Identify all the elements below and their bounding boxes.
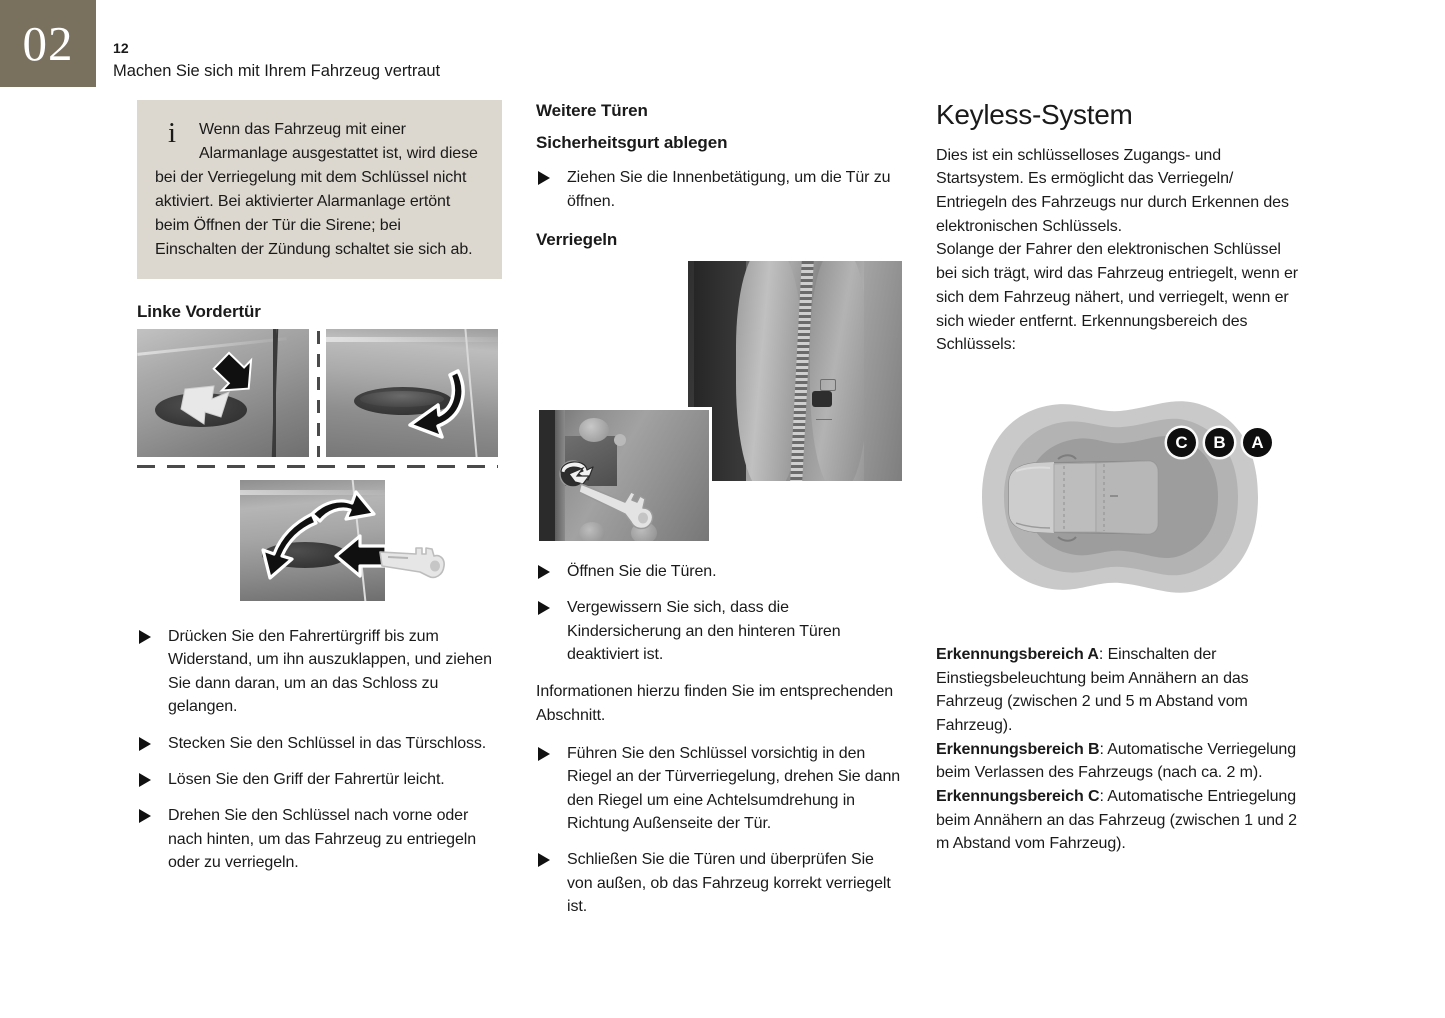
heading-keyless-system: Keyless-System [936,100,1302,131]
page-number: 12 [113,40,440,58]
zone-badge-a: A [1243,428,1272,457]
list-item-text: Führen Sie den Schlüssel vorsichtig in d… [567,745,900,832]
door-jamb-lock-figure [536,261,902,544]
info-note-text: iWenn das Fahrzeug mit einer Alarmanlage… [155,118,480,262]
photo-door-jamb-overview [688,261,902,481]
list-item: Drehen Sie den Schlüssel nach vorne oder… [137,804,502,874]
figure-divider-vertical [317,331,320,457]
middle-column: Weitere Türen Sicherheitsgurt ablegen Zi… [536,100,902,918]
list-item-text: Öffnen Sie die Türen. [567,563,716,580]
list-item-text: Schließen Sie die Türen und überprüfen S… [567,851,891,915]
bullet-triangle-icon [538,601,550,615]
driver-door-handle-figure [137,329,502,609]
photo-door-handle-press [137,329,309,457]
photo-key-in-lock-turn [240,480,445,601]
zone-note-c: Erkennungsbereich C: Automatische Entrie… [936,785,1302,856]
list-item-text: Ziehen Sie die Innenbetätigung, um die T… [567,169,890,209]
bullet-triangle-icon [139,809,151,823]
bullet-triangle-icon [139,737,151,751]
list-item: Drücken Sie den Fahrertürgriff bis zum W… [137,625,502,718]
bullet-triangle-icon [538,171,550,185]
list-item: Schließen Sie die Türen und überprüfen S… [536,848,902,918]
bullet-triangle-icon [139,773,151,787]
bullet-triangle-icon [538,853,550,867]
list-item: Lösen Sie den Griff der Fahrertür leicht… [137,768,502,791]
middle-bullet-list-2: Öffnen Sie die Türen. Vergewissern Sie s… [536,560,902,666]
key-turn-arrows-icon [240,480,445,601]
heading-sicherheitsgurt-ablegen: Sicherheitsgurt ablegen [536,132,902,154]
chapter-tab: 02 [0,0,96,87]
list-item-text: Stecken Sie den Schlüssel in das Türschl… [168,735,486,752]
pull-arrow-icon [326,329,498,457]
press-arrow-icon [137,329,309,457]
list-item-text: Drücken Sie den Fahrertürgriff bis zum W… [168,628,492,715]
middle-bullet-list-1: Ziehen Sie die Innenbetätigung, um die T… [536,166,902,213]
middle-paragraph: Informationen hierzu finden Sie im entsp… [536,680,902,727]
keyless-paragraph-2: Solange der Fahrer den elektronischen Sc… [936,238,1302,356]
car-top-view-icon [1009,455,1158,541]
zone-note-a-label: Erkennungsbereich A [936,646,1099,663]
list-item-text: Lösen Sie den Griff der Fahrertür leicht… [168,771,445,788]
latch-rotate-arrow-icon [539,410,712,544]
bullet-triangle-icon [538,747,550,761]
manual-page: 02 12 Machen Sie sich mit Ihrem Fahrzeug… [0,0,1445,1018]
left-column: iWenn das Fahrzeug mit einer Alarmanlage… [137,100,502,874]
chapter-number: 02 [23,19,74,68]
heading-weitere-tueren: Weitere Türen [536,100,902,122]
zone-badge-row: C B A [1167,428,1272,457]
zone-note-c-label: Erkennungsbereich C [936,788,1099,805]
heading-linke-vordertuer: Linke Vordertür [137,301,502,323]
zone-note-a: Erkennungsbereich A: Einschalten der Ein… [936,643,1302,738]
detection-zones-diagram [936,371,1302,623]
bullet-triangle-icon [538,565,550,579]
list-item: Vergewissern Sie sich, dass die Kindersi… [536,596,902,666]
keyless-zones-figure: C B A [936,371,1302,623]
page-header: 12 Machen Sie sich mit Ihrem Fahrzeug ve… [113,40,440,82]
figure-divider-horizontal [137,465,498,468]
zone-badge-b: B [1205,428,1234,457]
left-bullet-list: Drücken Sie den Fahrertürgriff bis zum W… [137,625,502,874]
list-item: Stecken Sie den Schlüssel in das Türschl… [137,732,502,755]
list-item-text: Vergewissern Sie sich, dass die Kindersi… [567,599,841,663]
info-i-icon: i [168,119,176,148]
bullet-triangle-icon [139,630,151,644]
list-item-text: Drehen Sie den Schlüssel nach vorne oder… [168,807,476,871]
info-note-body: Wenn das Fahrzeug mit einer Alarmanlage … [155,121,478,258]
middle-bullet-list-3: Führen Sie den Schlüssel vorsichtig in d… [536,742,902,919]
heading-verriegeln: Verriegeln [536,229,902,251]
zone-note-b: Erkennungsbereich B: Automatische Verrie… [936,738,1302,785]
list-item: Führen Sie den Schlüssel vorsichtig in d… [536,742,902,835]
keyless-paragraph-1: Dies ist ein schlüsselloses Zugangs- und… [936,144,1302,239]
right-column: Keyless-System Dies ist ein schlüssellos… [936,100,1302,856]
info-note-box: iWenn das Fahrzeug mit einer Alarmanlage… [137,100,502,279]
list-item: Öffnen Sie die Türen. [536,560,902,583]
photo-lock-latch-closeup-inset [536,407,712,544]
breadcrumb: Machen Sie sich mit Ihrem Fahrzeug vertr… [113,60,440,82]
zone-note-b-label: Erkennungsbereich B [936,741,1099,758]
photo-door-handle-pull [326,329,498,457]
zone-badge-c: C [1167,428,1196,457]
list-item: Ziehen Sie die Innenbetätigung, um die T… [536,166,902,213]
